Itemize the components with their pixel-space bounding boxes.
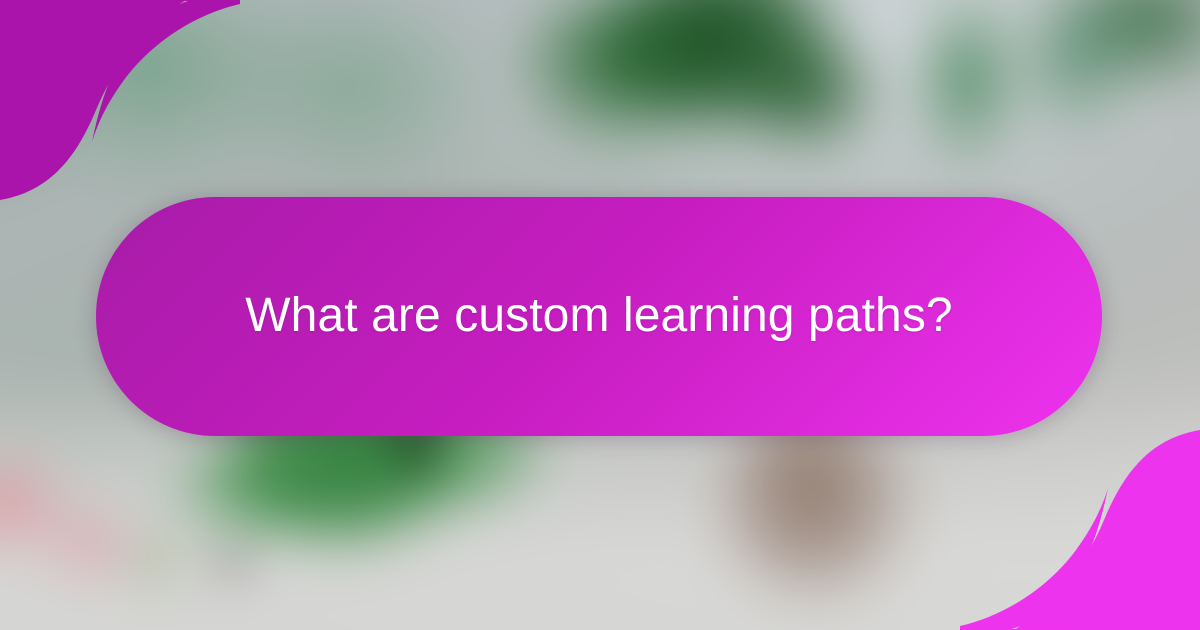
question-title: What are custom learning paths? bbox=[245, 288, 952, 345]
question-card[interactable]: What are custom learning paths? bbox=[96, 197, 1102, 436]
question-banner: What are custom learning paths? bbox=[0, 0, 1200, 630]
